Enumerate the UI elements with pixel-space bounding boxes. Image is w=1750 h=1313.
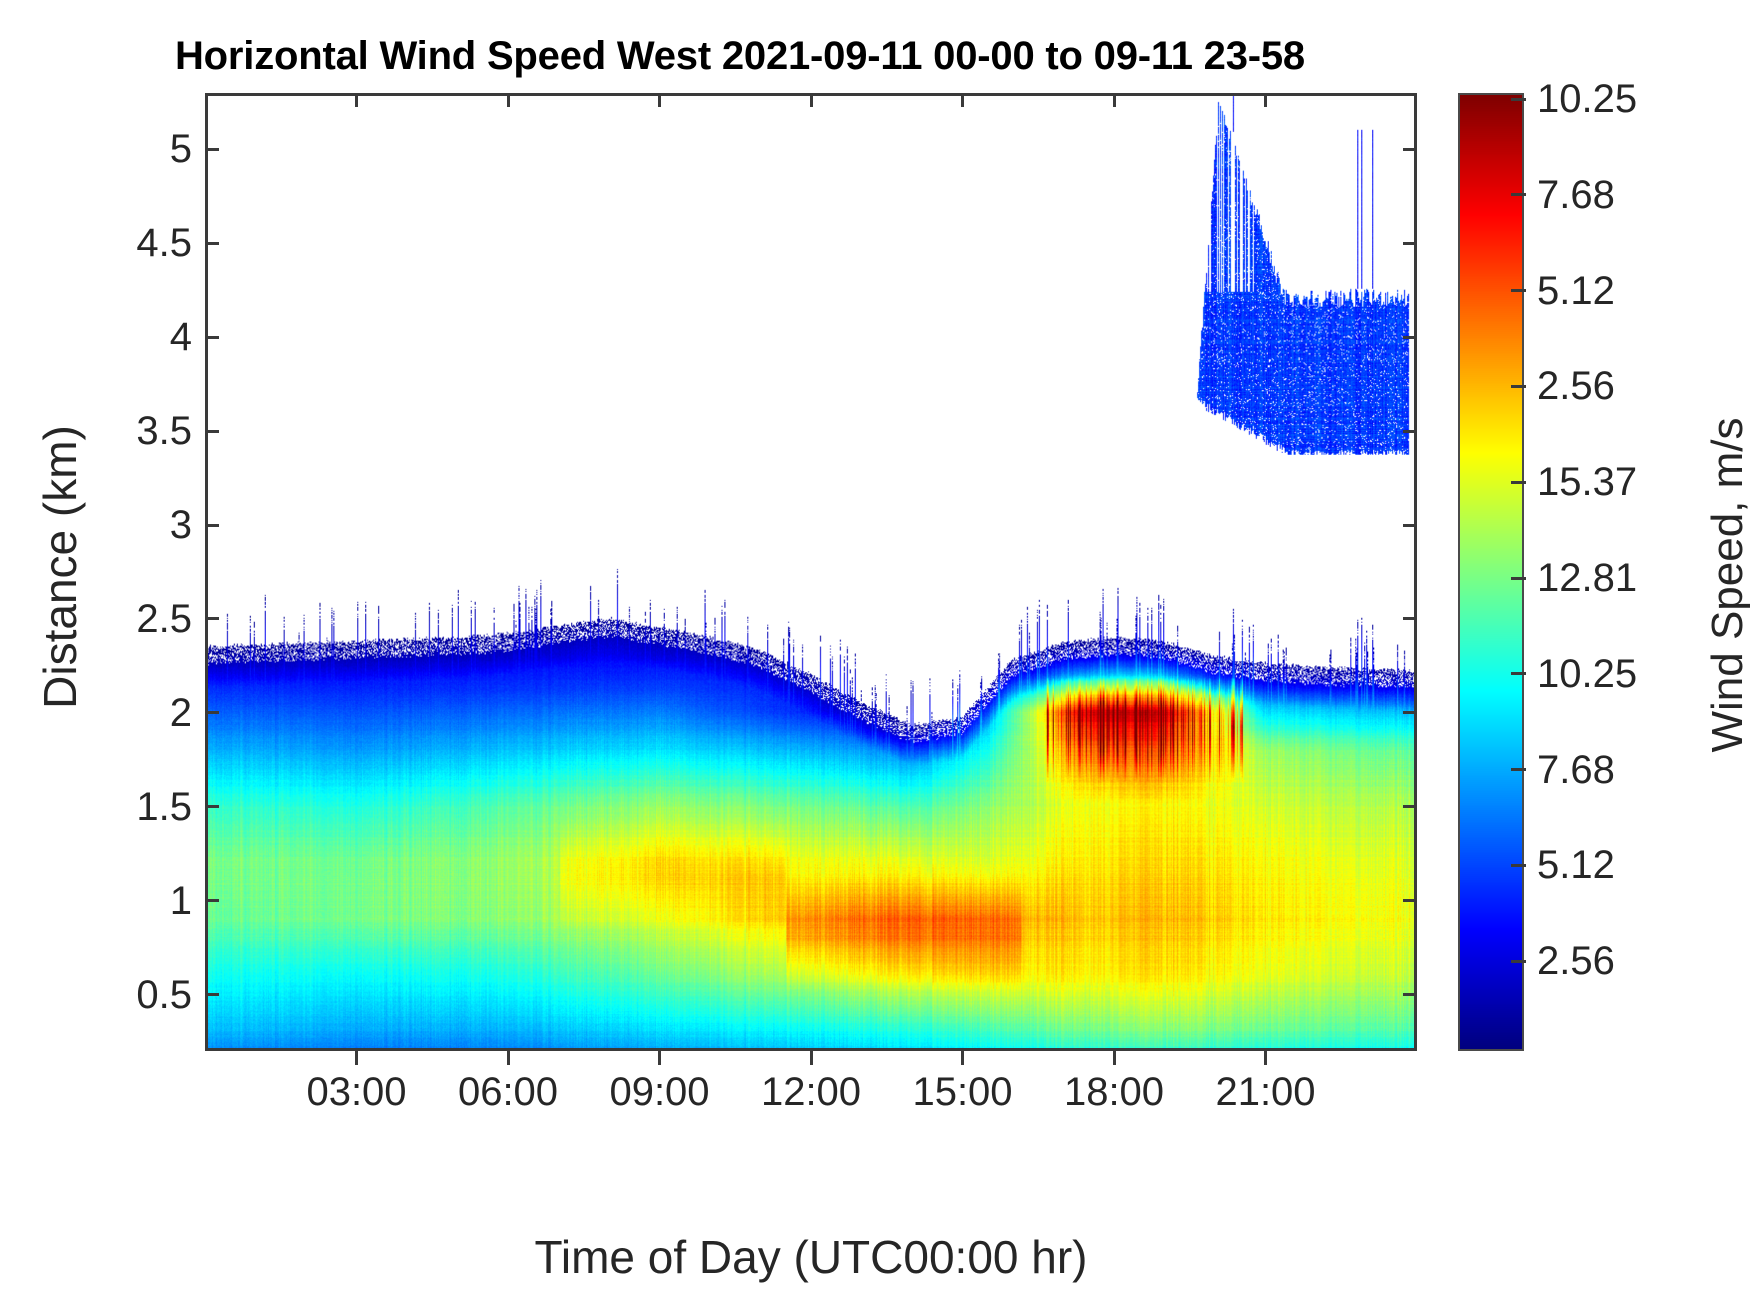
y-axis-title: Distance (km) [33,217,87,917]
colorbar[interactable] [1458,93,1524,1051]
y-tick-label: 5 [170,129,192,169]
colorbar-tick-label: 15.37 [1537,462,1637,502]
y-tick-mark-right [1403,336,1417,339]
x-tick-mark [961,1051,964,1065]
colorbar-tick-mark [1511,289,1526,292]
y-tick-label: 3 [170,505,192,545]
colorbar-tick-mark [1511,481,1526,484]
x-tick-label: 09:00 [609,1072,709,1112]
y-tick-label: 0.5 [136,975,192,1015]
colorbar-tick-label: 2.56 [1537,941,1615,981]
colorbar-tick-label: 7.68 [1537,750,1615,790]
colorbar-tick-mark [1511,385,1526,388]
colorbar-title: Wind Speed, m/s [1703,235,1750,935]
x-tick-mark-top [355,93,358,107]
x-axis-title: Time of Day (UTC00:00 hr) [205,1230,1417,1284]
x-tick-label: 21:00 [1215,1072,1315,1112]
y-tick-mark [205,242,219,245]
x-tick-mark [507,1051,510,1065]
colorbar-tick-mark [1511,672,1526,675]
y-tick-mark [205,805,219,808]
y-tick-mark-right [1403,242,1417,245]
y-tick-mark [205,617,219,620]
y-tick-label: 4.5 [136,223,192,263]
colorbar-tick-label: 5.12 [1537,845,1615,885]
y-tick-mark-right [1403,148,1417,151]
colorbar-tick-label: 12.81 [1537,558,1637,598]
x-tick-mark-top [658,93,661,107]
colorbar-tick-label: 7.68 [1537,175,1615,215]
y-tick-label: 1 [170,881,192,921]
x-tick-mark [658,1051,661,1065]
colorbar-tick-label: 5.12 [1537,271,1615,311]
y-tick-mark [205,993,219,996]
x-tick-mark [1113,1051,1116,1065]
colorbar-tick-mark [1511,193,1526,196]
x-tick-mark-top [1264,93,1267,107]
x-tick-mark [355,1051,358,1065]
heatmap-canvas[interactable] [208,96,1414,1048]
y-tick-mark-right [1403,805,1417,808]
x-tick-mark-top [507,93,510,107]
y-tick-mark-right [1403,711,1417,714]
wind-speed-figure: Horizontal Wind Speed West 2021-09-11 00… [0,0,1750,1313]
page-title: Horizontal Wind Speed West 2021-09-11 00… [150,34,1330,79]
y-tick-mark [205,336,219,339]
x-tick-label: 03:00 [306,1072,406,1112]
colorbar-tick-mark [1511,768,1526,771]
y-tick-mark-right [1403,993,1417,996]
colorbar-tick-mark [1511,960,1526,963]
x-tick-mark [810,1051,813,1065]
y-tick-mark-right [1403,899,1417,902]
y-tick-mark [205,524,219,527]
x-tick-label: 06:00 [458,1072,558,1112]
colorbar-tick-label: 10.25 [1537,79,1637,119]
x-tick-mark-top [810,93,813,107]
y-tick-mark [205,430,219,433]
y-tick-mark-right [1403,430,1417,433]
x-tick-label: 12:00 [761,1072,861,1112]
colorbar-tick-mark [1511,864,1526,867]
colorbar-tick-mark [1511,98,1526,101]
x-tick-label: 18:00 [1064,1072,1164,1112]
y-tick-mark-right [1403,617,1417,620]
y-tick-mark [205,899,219,902]
y-tick-label: 1.5 [136,787,192,827]
colorbar-gradient [1460,95,1522,1049]
x-tick-mark [1264,1051,1267,1065]
heatmap-plot-area[interactable] [205,93,1417,1051]
colorbar-tick-mark [1511,577,1526,580]
y-tick-mark-right [1403,524,1417,527]
y-tick-label: 4 [170,317,192,357]
y-tick-label: 2.5 [136,599,192,639]
y-tick-label: 3.5 [136,411,192,451]
y-tick-mark [205,711,219,714]
x-tick-mark-top [961,93,964,107]
y-tick-mark [205,148,219,151]
x-tick-mark-top [1113,93,1116,107]
colorbar-tick-label: 10.25 [1537,654,1637,694]
colorbar-tick-label: 2.56 [1537,366,1615,406]
x-tick-label: 15:00 [912,1072,1012,1112]
y-tick-label: 2 [170,693,192,733]
